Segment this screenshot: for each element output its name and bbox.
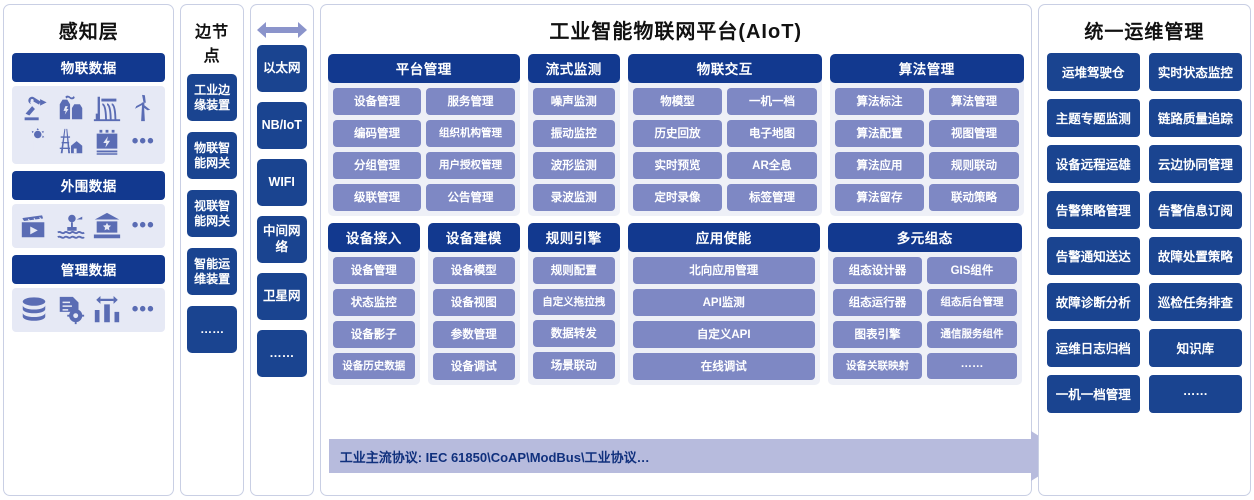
chip-coding-management[interactable]: 编码管理 [333, 120, 422, 147]
panel-device-modeling: 设备建模 设备模型 设备视图 参数管理 设备调试 [428, 223, 520, 385]
chip-service-management[interactable]: 服务管理 [426, 88, 515, 115]
chip-organization-management[interactable]: 组织机构管理 [426, 120, 515, 147]
panel-body-device-modeling: 设备模型 设备视图 参数管理 设备调试 [428, 252, 520, 381]
chip-custom-api[interactable]: 自定义API [633, 321, 815, 348]
protocol-arrow-banner: 工业主流协议: IEC 61850\CoAP\ModBus\工业协议… [321, 439, 1031, 473]
chip-algorithm-configuration[interactable]: 算法配置 [835, 120, 925, 147]
panel-multi-configuration: 多元组态 组态设计器 GIS组件 组态运行器 组态后台管理 图表引擎 通信服务组… [828, 223, 1022, 385]
panel-body-rule-engine: 规则配置 自定义拖拉拽 数据转发 场景联动 [528, 252, 620, 380]
ops-tile-alarm-strategy-management[interactable]: 告警策略管理 [1047, 191, 1140, 229]
chip-configuration-runtime[interactable]: 组态运行器 [833, 289, 923, 316]
chip-announcement-management[interactable]: 公告管理 [426, 184, 515, 211]
chip-wave-recording-monitoring[interactable]: 录波监测 [533, 184, 615, 211]
unified-ops-title: 统一运维管理 [1047, 11, 1242, 53]
ellipsis-icon: ••• [128, 127, 158, 157]
group-peripheral-data: 外围数据 ••• [12, 171, 165, 248]
chip-scheduled-recording[interactable]: 定时录像 [633, 184, 723, 211]
panel-rule-engine: 规则引擎 规则配置 自定义拖拉拽 数据转发 场景联动 [528, 223, 620, 385]
panel-platform-management: 平台管理 设备管理 服务管理 编码管理 组织机构管理 分组管理 用户授权管理 级… [328, 54, 520, 216]
chip-chart-engine[interactable]: 图表引擎 [833, 321, 923, 348]
chip-device-management[interactable]: 设备管理 [333, 88, 422, 115]
chip-linkage-strategy[interactable]: 联动策略 [929, 184, 1019, 211]
hydro-dam-icon [92, 93, 122, 123]
panel-application-enablement: 应用使能 北向应用管理 API监测 自定义API 在线调试 [628, 223, 820, 385]
panel-body-platform-management: 设备管理 服务管理 编码管理 组织机构管理 分组管理 用户授权管理 级联管理 公… [328, 83, 520, 212]
ops-tile-cloud-edge-collaboration[interactable]: 云边协同管理 [1149, 145, 1242, 183]
chip-scene-linkage[interactable]: 场景联动 [533, 352, 615, 379]
chip-algorithm-application[interactable]: 算法应用 [835, 152, 925, 179]
network-item-ethernet[interactable]: 以太网 [257, 45, 307, 92]
sensing-layer-column: 感知层 物联数据 ••• 外围数据 ••• [3, 4, 174, 496]
chip-algorithm-annotation[interactable]: 算法标注 [835, 88, 925, 115]
chip-noise-monitoring[interactable]: 噪声监测 [533, 88, 615, 115]
chip-custom-drag-and-drop[interactable]: 自定义拖拉拽 [533, 289, 615, 315]
transmission-tower-icon [56, 127, 86, 157]
ops-tile-link-quality-tracking[interactable]: 链路质量追踪 [1149, 99, 1242, 137]
chip-one-machine-one-file[interactable]: 一机一档 [727, 88, 817, 115]
power-plant-icon [56, 93, 86, 123]
chip-device-association-mapping[interactable]: 设备关联映射 [833, 353, 923, 379]
solar-panel-icon [19, 127, 49, 157]
panel-header-application-enablement: 应用使能 [628, 223, 820, 252]
panel-header-platform-management: 平台管理 [328, 54, 520, 83]
ellipsis-icon: ••• [128, 211, 158, 241]
chip-gis-component[interactable]: GIS组件 [927, 257, 1017, 284]
network-column: 以太网 NB/IoT WIFI 中间网络 卫星网 …… [250, 4, 314, 496]
ops-tile-more[interactable]: …… [1149, 375, 1242, 413]
ops-tile-fault-diagnosis-analysis[interactable]: 故障诊断分析 [1047, 283, 1140, 321]
chip-history-playback[interactable]: 历史回放 [633, 120, 723, 147]
network-item-nbiot[interactable]: NB/IoT [257, 102, 307, 149]
chip-online-debugging[interactable]: 在线调试 [633, 353, 815, 380]
edge-node-title: 边节点 [187, 11, 236, 74]
chip-communication-service-component[interactable]: 通信服务组件 [927, 321, 1017, 348]
network-item-more[interactable]: …… [257, 330, 307, 377]
chip-more[interactable]: …… [927, 353, 1017, 379]
chip-user-authorization-management[interactable]: 用户授权管理 [426, 152, 515, 179]
chip-tag-management[interactable]: 标签管理 [727, 184, 817, 211]
data-transfer-icon [92, 295, 122, 325]
chip-parameter-management[interactable]: 参数管理 [433, 321, 515, 348]
panel-device-access: 设备接入 设备管理 状态监控 设备影子 设备历史数据 [328, 223, 420, 385]
group-management-data: 管理数据 ••• [12, 255, 165, 332]
panel-body-multi-configuration: 组态设计器 GIS组件 组态运行器 组态后台管理 图表引擎 通信服务组件 设备关… [828, 252, 1022, 380]
architecture-diagram: 感知层 物联数据 ••• 外围数据 ••• [0, 0, 1254, 500]
chip-thing-model[interactable]: 物模型 [633, 88, 723, 115]
wind-turbine-icon [128, 93, 158, 123]
video-clapper-icon [19, 211, 49, 241]
chip-vibration-monitoring[interactable]: 振动监控 [533, 120, 615, 147]
chip-algorithm-retention[interactable]: 算法留存 [835, 184, 925, 211]
chip-northbound-app-management[interactable]: 北向应用管理 [633, 257, 815, 284]
sensing-layer-title: 感知层 [12, 11, 165, 53]
ops-tile-fault-handling-strategy[interactable]: 故障处置策略 [1149, 237, 1242, 275]
panel-header-algorithm-management: 算法管理 [830, 54, 1024, 83]
group-header-management-data: 管理数据 [12, 255, 165, 284]
edge-item-iot-smart-gateway[interactable]: 物联智能网关 [187, 132, 236, 179]
ops-tile-device-remote-ops[interactable]: 设备远程运雄 [1047, 145, 1140, 183]
panel-body-algorithm-management: 算法标注 算法管理 算法配置 视图管理 算法应用 规则联动 算法留存 联动策略 [830, 83, 1024, 212]
chip-configuration-backend-management[interactable]: 组态后台管理 [927, 289, 1017, 316]
database-icon [19, 295, 49, 325]
chip-electronic-map[interactable]: 电子地图 [727, 120, 817, 147]
panel-body-device-access: 设备管理 状态监控 设备影子 设备历史数据 [328, 252, 420, 380]
chip-device-view[interactable]: 设备视图 [433, 289, 515, 316]
network-item-middle-network[interactable]: 中间网络 [257, 216, 307, 263]
platform-row-2: 设备接入 设备管理 状态监控 设备影子 设备历史数据 设备建模 设备模型 设备视… [328, 223, 1024, 385]
panel-header-multi-configuration: 多元组态 [828, 223, 1022, 252]
chip-rule-configuration[interactable]: 规则配置 [533, 257, 615, 284]
ops-tile-alarm-notification-delivery[interactable]: 告警通知送达 [1047, 237, 1140, 275]
chip-cascade-management[interactable]: 级联管理 [333, 184, 422, 211]
group-header-iot-data: 物联数据 [12, 53, 165, 82]
chip-configuration-designer[interactable]: 组态设计器 [833, 257, 923, 284]
chip-waveform-monitoring[interactable]: 波形监测 [533, 152, 615, 179]
panel-header-iot-interaction: 物联交互 [628, 54, 822, 83]
icon-box-management-data: ••• [12, 288, 165, 332]
chip-ar-hologram[interactable]: AR全息 [727, 152, 817, 179]
chip-api-monitoring[interactable]: API监测 [633, 289, 815, 316]
aiot-platform-column: 工业智能物联网平台(AIoT) 平台管理 设备管理 服务管理 编码管理 组织机构… [320, 4, 1032, 496]
icon-box-peripheral-data: ••• [12, 204, 165, 248]
chip-device-model[interactable]: 设备模型 [433, 257, 515, 284]
document-gear-icon [56, 295, 86, 325]
edge-item-video-smart-gateway[interactable]: 视联智能网关 [187, 190, 236, 237]
chip-status-monitoring[interactable]: 状态监控 [333, 289, 415, 316]
panel-header-device-access: 设备接入 [328, 223, 420, 252]
ops-tile-thematic-monitoring[interactable]: 主题专题监测 [1047, 99, 1140, 137]
ops-tile-ops-log-archiving[interactable]: 运维日志归档 [1047, 329, 1140, 367]
group-header-peripheral-data: 外围数据 [12, 171, 165, 200]
panel-header-rule-engine: 规则引擎 [528, 223, 620, 252]
panel-iot-interaction: 物联交互 物模型 一机一档 历史回放 电子地图 实时预览 AR全息 定时录像 标… [628, 54, 822, 216]
panel-header-device-modeling: 设备建模 [428, 223, 520, 252]
robot-arm-icon [19, 93, 49, 123]
ops-tile-grid: 运堆驾驶仓 实时状态监控 主题专题监测 链路质量追踪 设备远程运雄 云边协同管理… [1047, 53, 1242, 413]
network-item-satellite[interactable]: 卫星网 [257, 273, 307, 320]
platform-panel-rows: 平台管理 设备管理 服务管理 编码管理 组织机构管理 分组管理 用户授权管理 级… [328, 54, 1024, 385]
government-building-icon [92, 211, 122, 241]
panel-header-stream-monitoring: 流式监测 [528, 54, 620, 83]
chip-view-management[interactable]: 视图管理 [929, 120, 1019, 147]
unified-ops-column: 统一运维管理 运堆驾驶仓 实时状态监控 主题专题监测 链路质量追踪 设备远程运雄… [1038, 4, 1251, 496]
network-item-wifi[interactable]: WIFI [257, 159, 307, 206]
platform-row-1: 平台管理 设备管理 服务管理 编码管理 组织机构管理 分组管理 用户授权管理 级… [328, 54, 1024, 216]
panel-body-stream-monitoring: 噪声监测 振动监控 波形监测 录波监测 [528, 83, 620, 212]
protocol-label: 工业主流协议: IEC 61850\CoAP\ModBus\工业协议… [329, 447, 650, 466]
edge-item-more[interactable]: …… [187, 306, 236, 353]
chip-device-debugging[interactable]: 设备调试 [433, 353, 515, 380]
ops-tile-ops-cockpit[interactable]: 运堆驾驶仓 [1047, 53, 1140, 91]
water-sensor-icon [56, 211, 86, 241]
chip-group-management[interactable]: 分组管理 [333, 152, 422, 179]
ops-tile-alarm-subscription[interactable]: 告警信息订阅 [1149, 191, 1242, 229]
edge-item-industrial-edge-device[interactable]: 工业边缘装置 [187, 74, 236, 121]
panel-algorithm-management: 算法管理 算法标注 算法管理 算法配置 视图管理 算法应用 规则联动 算法留存 … [830, 54, 1024, 216]
protocol-bar: 工业主流协议: IEC 61850\CoAP\ModBus\工业协议… [329, 439, 1031, 473]
chip-realtime-preview[interactable]: 实时预览 [633, 152, 723, 179]
chip-device-history-data[interactable]: 设备历史数据 [333, 353, 415, 379]
chip-data-forwarding[interactable]: 数据转发 [533, 320, 615, 347]
chip-rule-linkage[interactable]: 规则联动 [929, 152, 1019, 179]
bidirectional-arrow-icon [257, 11, 307, 45]
group-iot-data: 物联数据 ••• [12, 53, 165, 164]
panel-body-iot-interaction: 物模型 一机一档 历史回放 电子地图 实时预览 AR全息 定时录像 标签管理 [628, 83, 822, 212]
chip-algorithm-management[interactable]: 算法管理 [929, 88, 1019, 115]
ops-tile-one-machine-one-file-management[interactable]: 一机一档管理 [1047, 375, 1140, 413]
ops-tile-realtime-status-monitoring[interactable]: 实时状态监控 [1149, 53, 1242, 91]
chip-device-shadow[interactable]: 设备影子 [333, 321, 415, 348]
ops-tile-knowledge-base[interactable]: 知识库 [1149, 329, 1242, 367]
battery-icon [92, 127, 122, 157]
chip-device-management-2[interactable]: 设备管理 [333, 257, 415, 284]
ellipsis-icon: ••• [128, 295, 158, 325]
icon-box-iot-data: ••• [12, 86, 165, 164]
platform-title: 工业智能物联网平台(AIoT) [328, 10, 1024, 54]
ops-tile-inspection-task-scheduling[interactable]: 巡检任务排查 [1149, 283, 1242, 321]
panel-stream-monitoring: 流式监测 噪声监测 振动监控 波形监测 录波监测 [528, 54, 620, 216]
edge-item-smart-ops-device[interactable]: 智能运维装置 [187, 248, 236, 295]
edge-node-column: 边节点 工业边缘装置 物联智能网关 视联智能网关 智能运维装置 …… [180, 4, 243, 496]
panel-body-application-enablement: 北向应用管理 API监测 自定义API 在线调试 [628, 252, 820, 381]
